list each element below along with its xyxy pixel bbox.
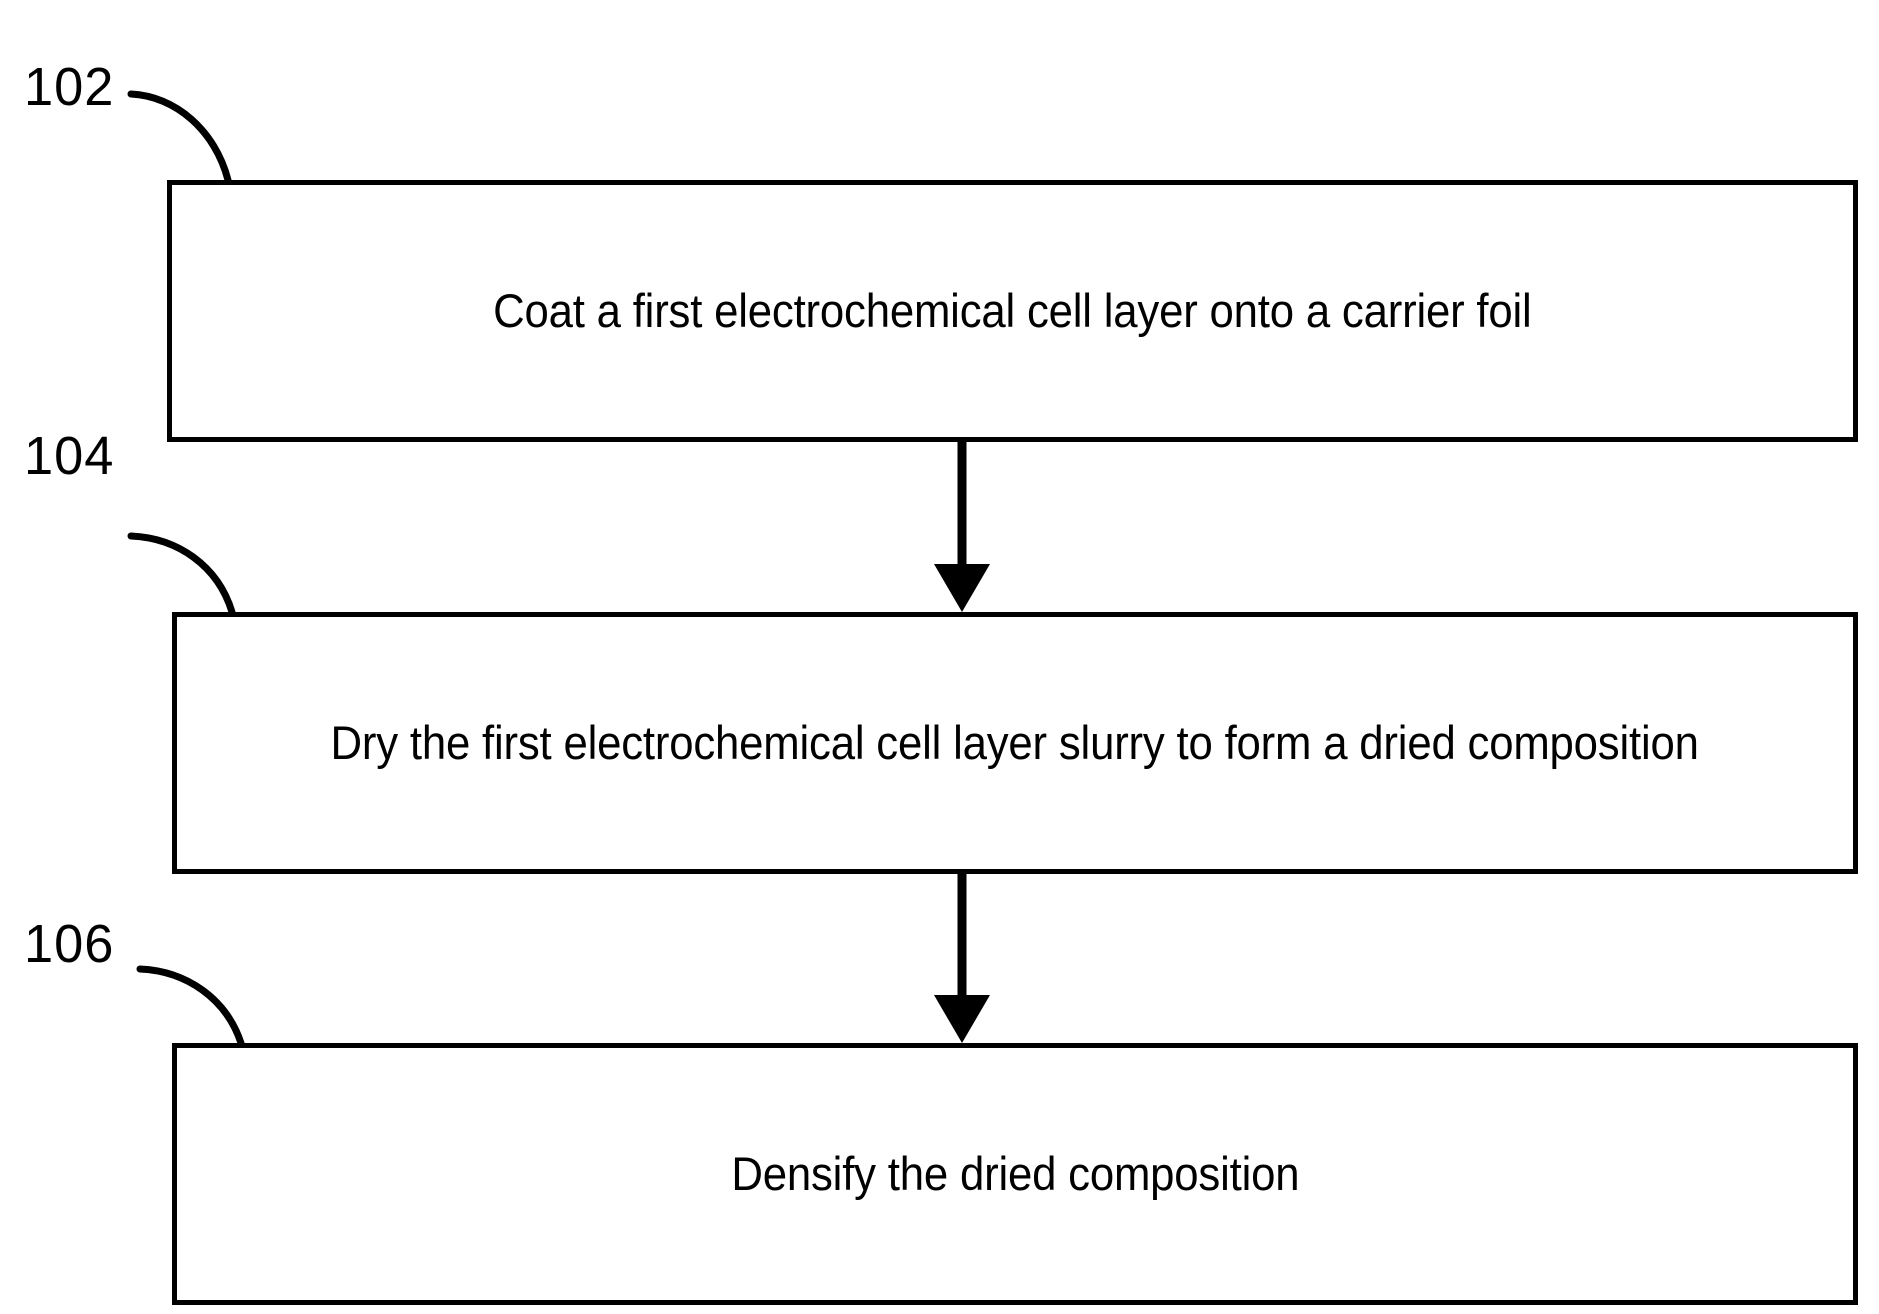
process-step-label-102: Coat a first electrochemical cell layer … <box>469 281 1556 340</box>
process-step-label-106: Densify the dried composition <box>707 1144 1323 1203</box>
leader-line-102 <box>131 94 228 180</box>
leader-line-106 <box>140 969 241 1043</box>
process-step-box-104: Dry the first electrochemical cell layer… <box>172 612 1858 874</box>
leader-line-104 <box>131 536 232 612</box>
figure-canvas: 102 104 106 Coat a first electrochemical… <box>0 0 1879 1314</box>
reference-numeral-104: 104 <box>24 425 114 487</box>
reference-numeral-102: 102 <box>24 56 114 118</box>
process-step-box-102: Coat a first electrochemical cell layer … <box>167 180 1858 442</box>
reference-numeral-106: 106 <box>24 913 114 975</box>
connector-104-to-106 <box>934 874 990 1043</box>
connector-102-to-104 <box>934 442 990 612</box>
process-step-label-104: Dry the first electrochemical cell layer… <box>307 713 1724 772</box>
process-step-box-106: Densify the dried composition <box>172 1043 1858 1305</box>
